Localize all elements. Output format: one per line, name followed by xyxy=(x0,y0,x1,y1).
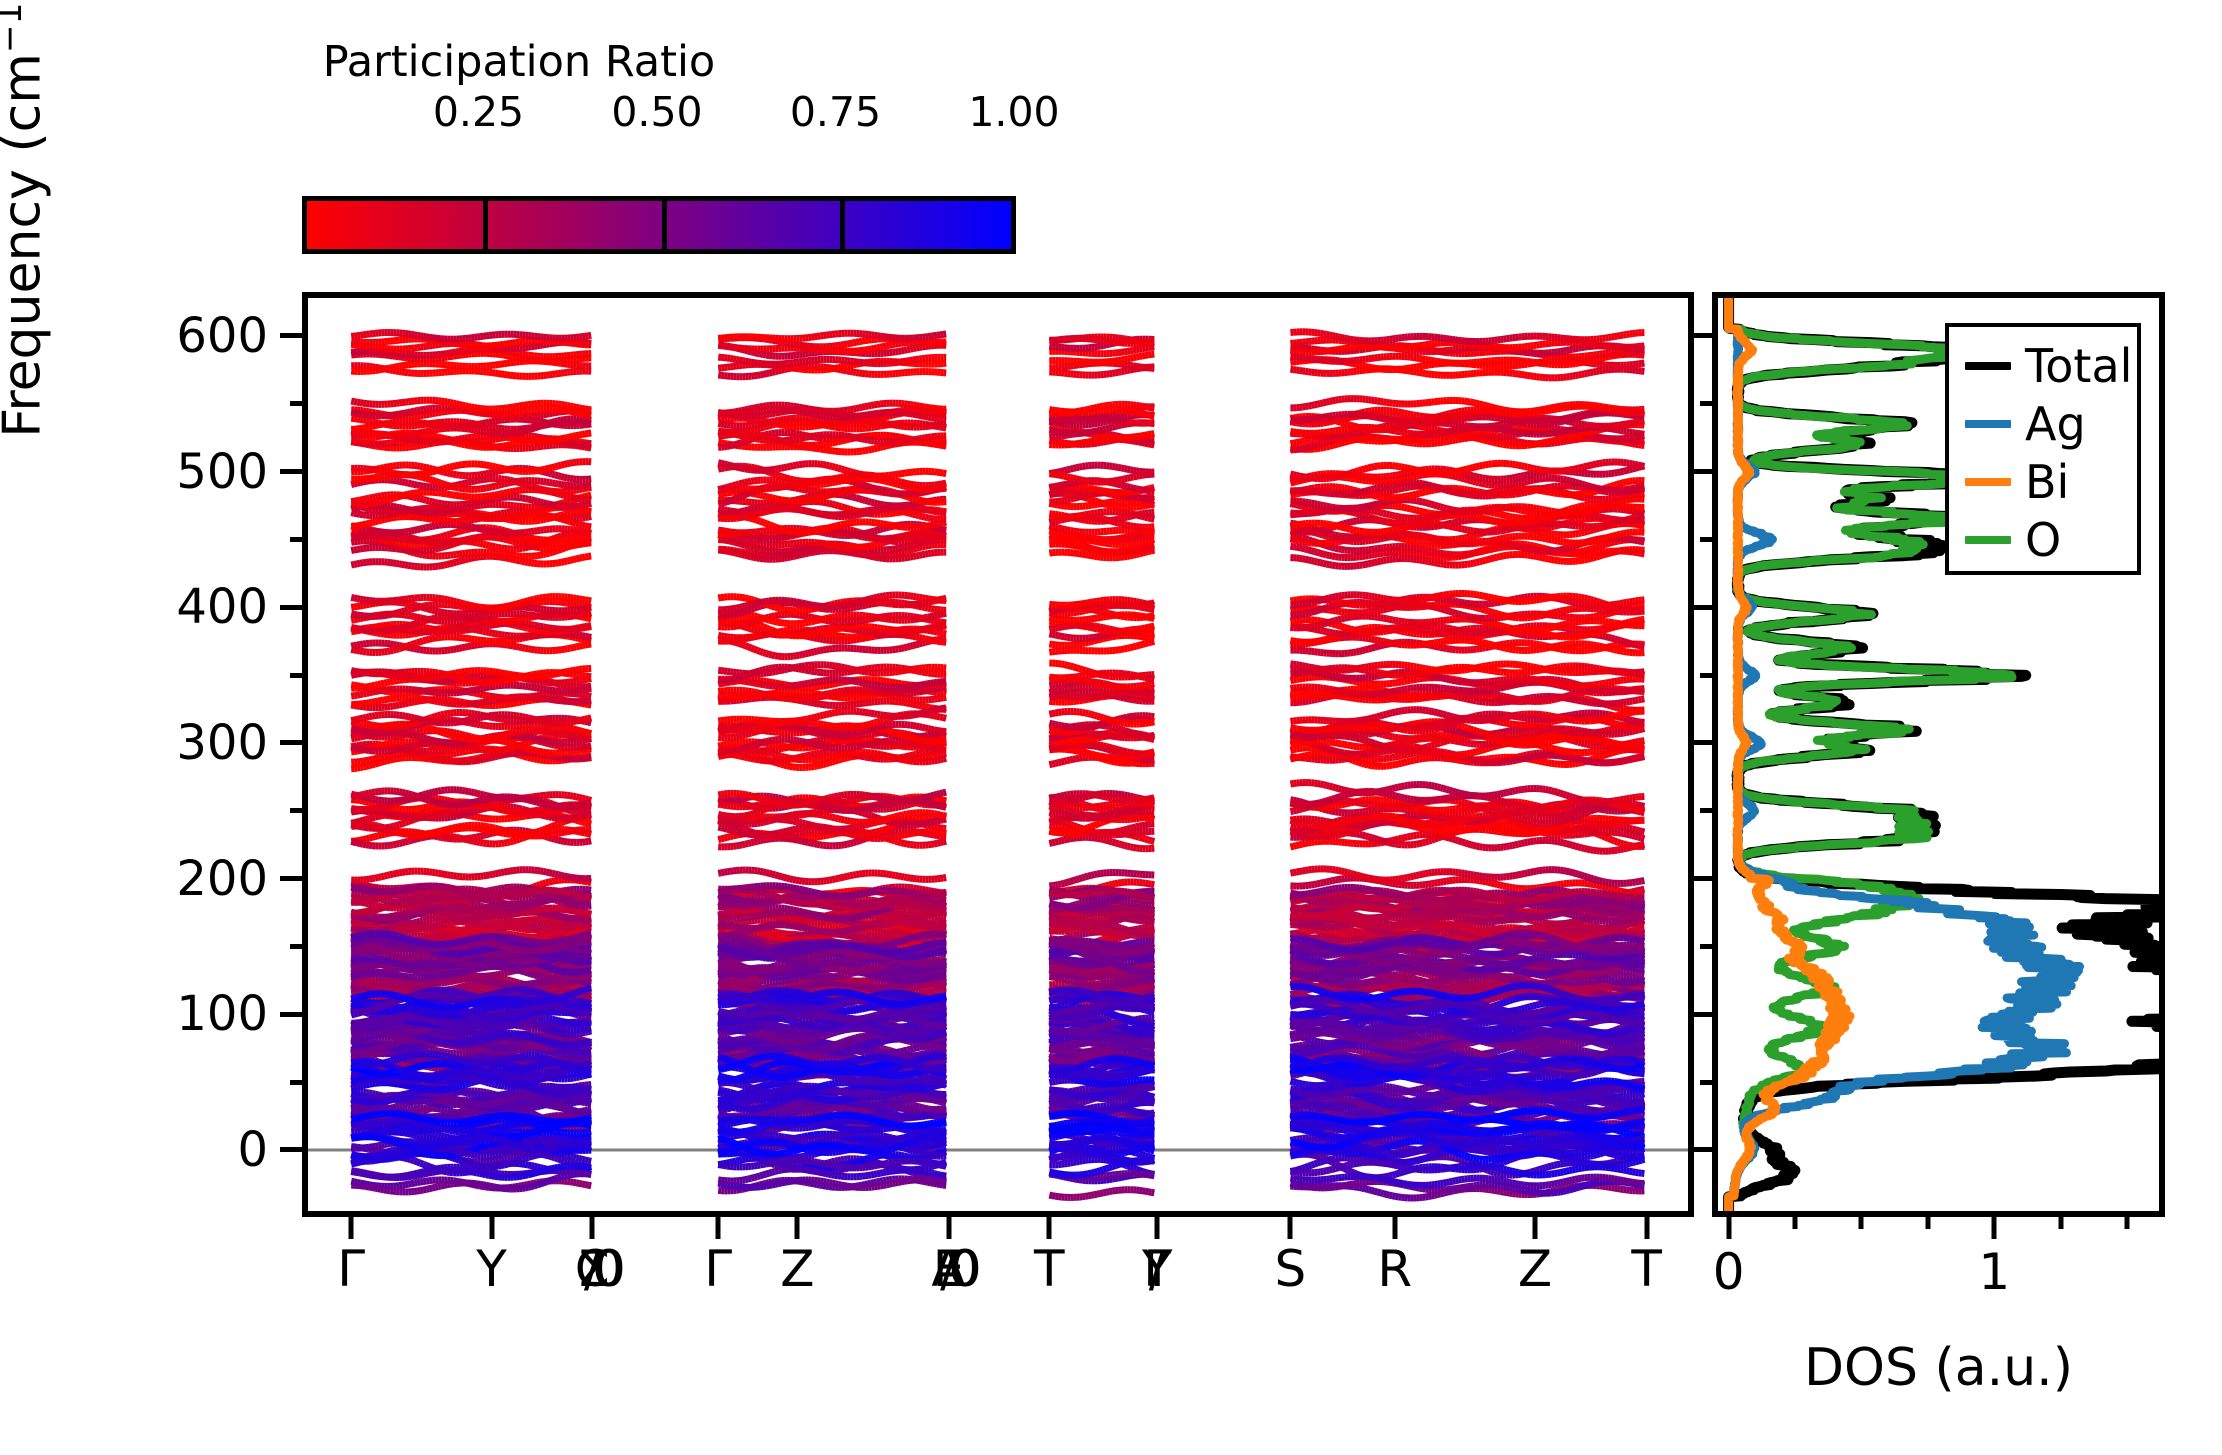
band-xtick-mark xyxy=(590,1217,595,1239)
band-ytick-label: 100 xyxy=(176,986,268,1042)
band-ytick-label: 600 xyxy=(176,308,268,364)
dos-ytick-marks xyxy=(1712,292,1736,1217)
band-xtick-label: Z xyxy=(780,1243,814,1296)
colorbar-tick-label: 0.25 xyxy=(433,88,524,136)
band-ytick-minor xyxy=(290,401,302,406)
colorbar-gradient xyxy=(307,201,1011,249)
band-ytick-mark xyxy=(280,876,302,881)
band-ytick-label: 200 xyxy=(176,851,268,907)
colorbar-tick-mark xyxy=(483,201,488,249)
band-xtick-mark xyxy=(1288,1217,1293,1239)
band-ytick-marks xyxy=(302,292,303,1217)
band-xtick-label: R xyxy=(1377,1243,1412,1296)
phonon-band-structure-axes xyxy=(302,292,1694,1217)
band-xtick-mark xyxy=(1047,1217,1052,1239)
legend-entry: Bi xyxy=(1949,453,2137,511)
dos-ytick-mark xyxy=(1690,1147,1712,1152)
band-ytick-label: 0 xyxy=(237,1122,268,1178)
dos-xtick-mark xyxy=(1726,1217,1731,1239)
dos-xtick-minor xyxy=(2125,1217,2130,1229)
legend-entry: Total xyxy=(1949,337,2137,395)
band-xtick-mark xyxy=(795,1217,800,1239)
band-ytick-label: 400 xyxy=(176,579,268,635)
dos-xtick-minor xyxy=(1859,1217,1864,1229)
band-xtick-label: T xyxy=(1631,1243,1662,1296)
band-xtick-mark xyxy=(1533,1217,1538,1239)
band-xtick-label: Γ xyxy=(337,1243,365,1296)
dos-legend: TotalAgBiO xyxy=(1945,323,2141,575)
dos-ytick-mark xyxy=(1690,740,1712,745)
dos-ytick-minor xyxy=(1700,808,1712,813)
legend-label: Total xyxy=(2025,343,2132,389)
band-ytick-minor xyxy=(290,1080,302,1085)
legend-label: O xyxy=(2025,517,2061,563)
band-xtick-mark xyxy=(489,1217,494,1239)
colorbar-tick-labels: 0.250.500.751.00 xyxy=(300,88,1032,136)
legend-color-swatch xyxy=(1965,478,2011,486)
band-ytick-labels: 6005004003002001000 xyxy=(0,292,290,1217)
band-xtick-marks xyxy=(302,1217,1694,1241)
band-ytick-mark xyxy=(280,605,302,610)
band-xtick-label: Y xyxy=(476,1243,507,1296)
dos-xtick-mark xyxy=(1992,1217,1997,1239)
band-xtick-mark xyxy=(1392,1217,1397,1239)
legend-label: Bi xyxy=(2025,459,2069,505)
band-xtick-label: Z xyxy=(1518,1243,1552,1296)
dos-ytick-mark xyxy=(1690,469,1712,474)
dos-ytick-minor xyxy=(1700,401,1712,406)
dos-xtick-labels: 01 xyxy=(1712,1243,2165,1303)
dos-ytick-mark xyxy=(1690,605,1712,610)
band-plot-area xyxy=(308,298,1688,1211)
dos-ytick-mark xyxy=(1690,876,1712,881)
band-xtick-label: T xyxy=(1034,1243,1065,1296)
dos-ytick-minor xyxy=(1700,1080,1712,1085)
band-xtick-labels: ΓYC0/Σ0ΓZA0/E0TY/ΓSRZT xyxy=(302,1243,1694,1338)
dos-xtick-label: 0 xyxy=(1713,1243,1745,1301)
colorbar-title: Participation Ratio xyxy=(299,36,739,88)
dos-xtick-label: 1 xyxy=(1978,1243,2010,1301)
legend-color-swatch xyxy=(1965,362,2011,370)
band-xtick-mark xyxy=(716,1217,721,1239)
band-ytick-mark xyxy=(280,1012,302,1017)
dos-ytick-mark xyxy=(1690,1012,1712,1017)
band-xtick-mark xyxy=(946,1217,951,1239)
colorbar-tick-mark xyxy=(840,201,845,249)
dos-xtick-marks xyxy=(1712,1217,2165,1241)
colorbar-tick-label: 0.75 xyxy=(790,88,881,136)
colorbar-tick-label: 1.00 xyxy=(968,88,1059,136)
band-ytick-label: 500 xyxy=(176,444,268,500)
legend-entry: O xyxy=(1949,511,2137,569)
band-ytick-minor xyxy=(290,673,302,678)
participation-ratio-colorbar xyxy=(302,196,1016,254)
band-xtick-label: S xyxy=(1274,1243,1306,1296)
legend-entry: Ag xyxy=(1949,395,2137,453)
colorbar-tick-mark xyxy=(662,201,667,249)
band-ytick-minor xyxy=(290,537,302,542)
dos-ytick-minor xyxy=(1700,537,1712,542)
dos-ytick-minor xyxy=(1700,944,1712,949)
band-xtick-mark xyxy=(1644,1217,1649,1239)
band-xtick-mark xyxy=(1155,1217,1160,1239)
band-ytick-mark xyxy=(280,469,302,474)
dos-xtick-minor xyxy=(1793,1217,1798,1229)
band-xtick-mark xyxy=(349,1217,354,1239)
legend-color-swatch xyxy=(1965,536,2011,544)
band-xtick-label: Γ xyxy=(704,1243,732,1296)
band-ytick-minor xyxy=(290,808,302,813)
band-ytick-label: 300 xyxy=(176,715,268,771)
dos-ytick-minor xyxy=(1700,673,1712,678)
band-curves xyxy=(308,298,1688,1211)
band-ytick-mark xyxy=(280,740,302,745)
dos-xtick-minor xyxy=(1925,1217,1930,1229)
band-ytick-mark xyxy=(280,333,302,338)
band-ytick-mark xyxy=(280,1147,302,1152)
legend-label: Ag xyxy=(2025,401,2086,447)
legend-color-swatch xyxy=(1965,420,2011,428)
dos-xlabel: DOS (a.u.) xyxy=(1712,1338,2165,1398)
colorbar-tick-label: 0.50 xyxy=(611,88,702,136)
dos-ytick-mark xyxy=(1690,333,1712,338)
band-branches xyxy=(351,332,1644,1198)
dos-xtick-minor xyxy=(2058,1217,2063,1229)
band-ytick-minor xyxy=(290,944,302,949)
figure-canvas: Participation Ratio 0.250.500.751.00 Fre… xyxy=(0,0,2222,1455)
